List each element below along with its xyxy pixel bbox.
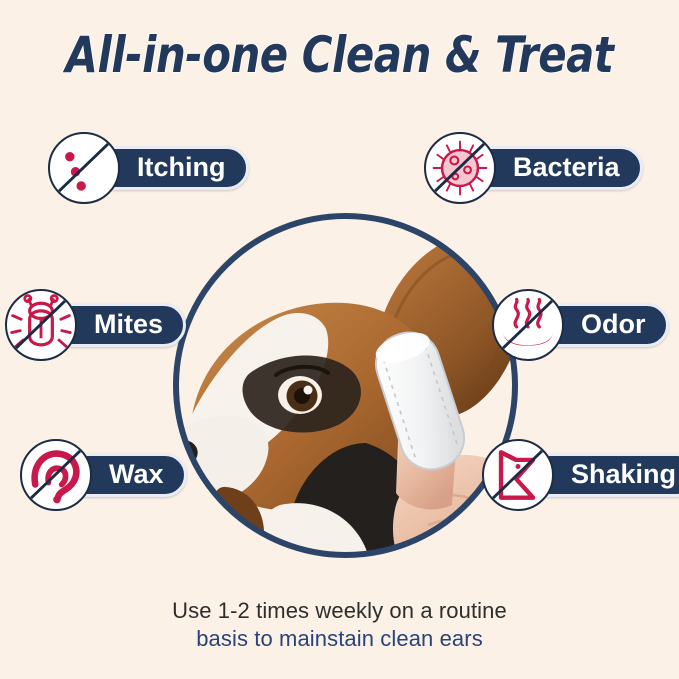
odor-no-icon xyxy=(492,289,564,361)
wax-no-icon xyxy=(20,439,92,511)
feature-badge-mites[interactable]: Mites xyxy=(5,297,186,353)
feature-label-itching: Itching xyxy=(137,154,226,181)
infographic-root: All-in-one Clean & Treat xyxy=(0,0,679,679)
usage-line-1: Use 1-2 times weekly on a routine xyxy=(0,597,679,625)
feature-badge-itching[interactable]: Itching xyxy=(48,140,249,196)
feature-badge-wax[interactable]: Wax xyxy=(20,447,187,503)
center-ring xyxy=(173,213,518,558)
feature-label-wax: Wax xyxy=(109,461,164,488)
feature-label-shaking: Shaking xyxy=(571,461,676,488)
feature-label-odor: Odor xyxy=(581,311,646,338)
usage-line-2: basis to mainstain clean ears xyxy=(0,625,679,653)
feature-label-bacteria: Bacteria xyxy=(513,154,620,181)
feature-badge-bacteria[interactable]: Bacteria xyxy=(424,140,643,196)
feature-badge-odor[interactable]: Odor xyxy=(492,297,669,353)
bacteria-no-icon xyxy=(424,132,496,204)
mites-no-icon xyxy=(5,289,77,361)
shaking-no-icon xyxy=(482,439,554,511)
feature-label-mites: Mites xyxy=(94,311,163,338)
itching-no-icon xyxy=(48,132,120,204)
page-title: All-in-one Clean & Treat xyxy=(24,26,655,84)
usage-instructions: Use 1-2 times weekly on a routine basis … xyxy=(0,597,679,653)
feature-badge-shaking[interactable]: Shaking xyxy=(482,447,679,503)
